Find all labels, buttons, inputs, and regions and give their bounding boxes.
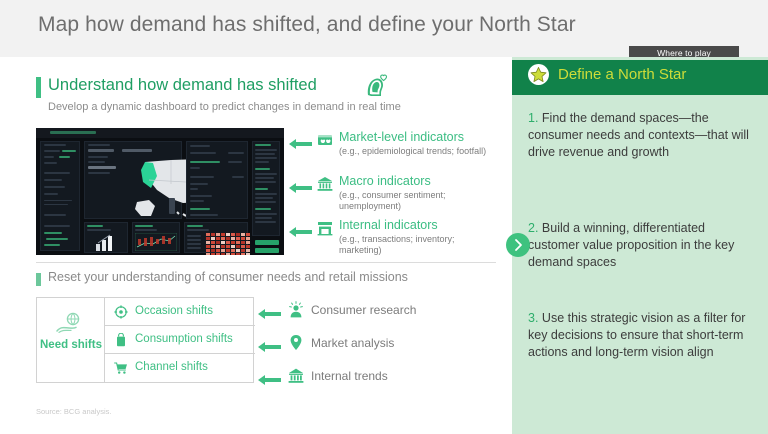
left-arrow-icon bbox=[289, 136, 312, 146]
indicator-title: Market-level indicators bbox=[339, 130, 464, 144]
need-shifts-output-label: Consumer research bbox=[311, 303, 416, 317]
need-shifts-row-channel: Channel shifts bbox=[105, 354, 255, 382]
need-shifts-group-cell: Need shifts bbox=[37, 298, 105, 382]
left-arrow-icon bbox=[289, 180, 312, 190]
shopping-bag-icon bbox=[114, 333, 128, 347]
head-heart-icon bbox=[364, 73, 390, 99]
section-understand-title: Understand how demand has shifted bbox=[48, 76, 317, 95]
bank-icon bbox=[317, 176, 333, 192]
left-content-column: Understand how demand has shifted Develo… bbox=[0, 57, 512, 434]
left-arrow-icon bbox=[258, 306, 281, 316]
need-shifts-group-label: Need shifts bbox=[37, 338, 105, 352]
section-accent-bar-2 bbox=[36, 273, 41, 286]
star-badge-icon bbox=[528, 64, 549, 85]
indicator-title: Internal indicators bbox=[339, 218, 438, 232]
hand-globe-icon bbox=[55, 312, 87, 336]
item-text: Find the demand spaces—the consumer need… bbox=[528, 111, 749, 159]
market-stall-icon bbox=[317, 220, 333, 236]
person-idea-icon bbox=[288, 301, 304, 318]
north-star-panel: Define a North Star 1. Find the demand s… bbox=[512, 57, 768, 434]
location-pin-icon bbox=[288, 334, 304, 351]
need-shifts-row-label: Occasion shifts bbox=[135, 305, 213, 317]
need-shifts-row-occasion: Occasion shifts bbox=[105, 298, 255, 326]
bank-icon bbox=[288, 367, 304, 384]
need-shifts-row-label: Consumption shifts bbox=[135, 333, 233, 345]
source-note: Source: BCG analysis. bbox=[36, 407, 111, 416]
section-reset-title: Reset your understanding of consumer nee… bbox=[48, 270, 408, 284]
item-text: Use this strategic vision as a filter fo… bbox=[528, 311, 745, 359]
left-arrow-icon bbox=[289, 224, 312, 234]
storefront-heart-icon bbox=[317, 132, 333, 148]
section-divider bbox=[36, 262, 496, 263]
need-shifts-output-label: Market analysis bbox=[311, 336, 394, 350]
indicator-title: Macro indicators bbox=[339, 174, 431, 188]
north-star-item-3: 3. Use this strategic vision as a filter… bbox=[528, 310, 752, 361]
item-text: Build a winning, differentiated customer… bbox=[528, 221, 734, 269]
north-star-title: Define a North Star bbox=[558, 66, 686, 83]
indicator-detail: (e.g., consumer sentiment; unemployment) bbox=[339, 190, 499, 212]
need-shifts-row-label: Channel shifts bbox=[135, 361, 208, 373]
need-shifts-output-label: Internal trends bbox=[311, 369, 388, 383]
indicator-detail: (e.g., epidemiological trends; footfall) bbox=[339, 146, 499, 157]
left-arrow-icon bbox=[258, 372, 281, 382]
north-star-item-2: 2. Build a winning, differentiated custo… bbox=[528, 220, 752, 271]
section-understand-subtitle: Develop a dynamic dashboard to predict c… bbox=[48, 101, 401, 113]
item-number: 1. bbox=[528, 111, 538, 125]
section-accent-bar bbox=[36, 77, 41, 98]
left-arrow-icon bbox=[258, 339, 281, 349]
shopping-cart-icon bbox=[114, 361, 128, 375]
flow-connector-arrow bbox=[506, 233, 530, 257]
north-star-item-1: 1. Find the demand spaces—the consumer n… bbox=[528, 110, 752, 161]
need-shifts-row-consumption: Consumption shifts bbox=[105, 326, 255, 354]
demand-dashboard-screenshot bbox=[36, 128, 284, 255]
target-icon bbox=[114, 305, 128, 319]
indicator-detail: (e.g., transactions; inventory; marketin… bbox=[339, 234, 499, 256]
need-shifts-table: Need shifts Occasion shifts Consumption … bbox=[36, 297, 254, 383]
page-title: Map how demand has shifted, and define y… bbox=[38, 13, 576, 37]
item-number: 3. bbox=[528, 311, 538, 325]
